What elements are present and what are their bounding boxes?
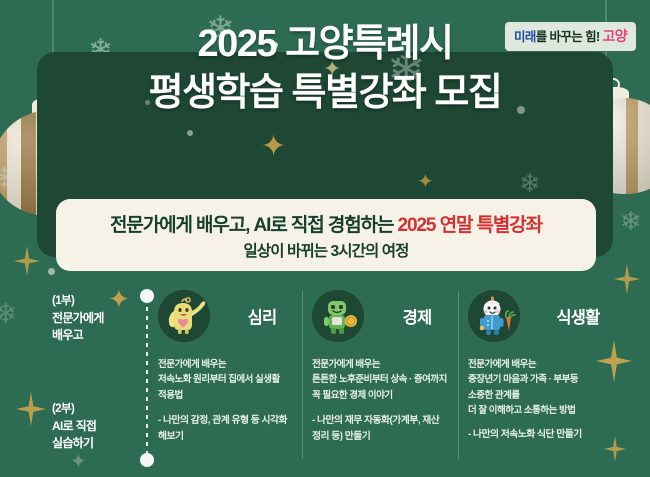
logo-text-goyang: 고양: [602, 28, 627, 44]
snowflake-icon: ❄: [519, 170, 541, 196]
parts-column: (1부) 전문가에게 배우고 (2부) AI로 직접 실습하기: [52, 293, 130, 344]
part-block-2: (2부) AI로 직접 실습하기: [52, 401, 96, 452]
subtitle-text-normal: 전문가에게 배우고, AI로 직접 경험하는: [110, 215, 398, 236]
snowflake-icon: ❄: [0, 164, 17, 194]
subject-bullet-text: - 나만의 저속노화 식단 만들기: [468, 427, 628, 443]
subject-card-diet: 식생활 전문가에게 배우는 중장년기 마음과 가족 · 부부등 소중한 관계를 …: [468, 287, 628, 419]
dotted-divider: [140, 289, 154, 467]
logo-text-mirae: 미래: [514, 30, 536, 44]
subject-body-text: 전문가에게 배우는 중장년기 마음과 가족 · 부부등 소중한 관계를 더 잘 …: [468, 357, 628, 419]
economy-character-icon: [312, 290, 364, 342]
content-area: (1부) 전문가에게 배우고 (2부) AI로 직접 실습하기: [0, 285, 650, 477]
subject-body-text: 전문가에게 배우는 튼튼한 노후준비부터 상속 · 증여까지 꼭 필요한 경제 …: [312, 357, 462, 403]
subject-header: 식생활: [468, 287, 628, 345]
subject-card-psychology: 심리 전문가에게 배우는 저속노화 원리부터 집에서 실생활 적용법 - 나만의…: [158, 287, 306, 403]
subject-title: 식생활: [528, 304, 628, 328]
subject-header: 심리: [158, 287, 306, 345]
subtitle-line-1: 전문가에게 배우고, AI로 직접 경험하는 2025 연말 특별강좌: [110, 210, 542, 237]
title-line-2: 평생학습 특별강좌 모집: [0, 69, 650, 118]
snow-dot: [187, 130, 193, 136]
subject-bullet-text: - 나만의 재무 자동화(가계부, 재산 정리 등) 만들기: [312, 413, 462, 445]
subject-bullet-text: - 나만의 감정, 관계 유형 등 시각화 해보기: [158, 413, 306, 445]
part-block-1: (1부) 전문가에게 배우고: [52, 293, 130, 344]
subtitle-text-highlight: 2025 연말 특별강좌: [398, 215, 543, 236]
subject-title: 경제: [372, 304, 462, 328]
diet-character-icon: [468, 290, 520, 342]
star-burst-icon: ✦: [261, 132, 286, 162]
star-burst-icon: ✦: [417, 172, 434, 192]
subtitle-line-2: 일상이 바뀌는 3시간의 여정: [244, 239, 409, 261]
sparkle-icon: [14, 246, 40, 276]
psychology-character-icon: [158, 290, 210, 342]
subject-title: 심리: [218, 304, 306, 328]
snowflake-icon: ❄: [620, 208, 642, 234]
part-2-desc: AI로 직접 실습하기: [52, 418, 96, 452]
part-2-tag: (2부): [52, 401, 96, 418]
part-1-tag: (1부): [52, 293, 130, 310]
part-1-desc: 전문가에게 배우고: [52, 310, 130, 344]
divider-cap-top: [140, 289, 154, 303]
divider-line: [146, 298, 148, 458]
subject-header: 경제: [312, 287, 462, 345]
snow-dot: [48, 268, 55, 275]
snow-dot: [8, 128, 17, 137]
city-logo: 미래를 바꾸는 힘! 고양: [505, 22, 636, 51]
logo-text-middle: 를 바꾸는 힘!: [536, 30, 600, 44]
subtitle-banner: 전문가에게 배우고, AI로 직접 경험하는 2025 연말 특별강좌 일상이 …: [56, 199, 596, 271]
subject-card-economy: 경제 전문가에게 배우는 튼튼한 노후준비부터 상속 · 증여까지 꼭 필요한 …: [312, 287, 462, 403]
poster-root: ❄ ❄ ❄ ❄ ✦ ❄ ✦ ✦ 미래를 바꾸는 힘! 고양 ❄ ❄ ✦ ✦ ✦ …: [0, 0, 650, 477]
subject-body-text: 전문가에게 배우는 저속노화 원리부터 집에서 실생활 적용법: [158, 357, 306, 403]
divider-cap-bottom: [140, 453, 154, 467]
